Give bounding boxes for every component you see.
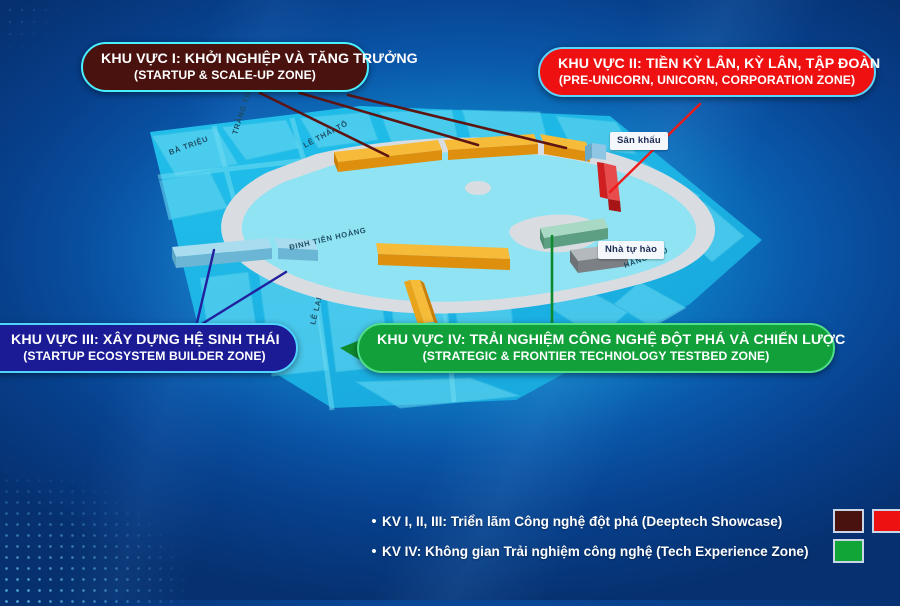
legend-item-1: • KV I, II, III: Triển lãm Công nghệ đột…: [366, 506, 900, 536]
legend-item-1-text: KV I, II, III: Triển lãm Công nghệ đột p…: [382, 514, 782, 529]
zone-label-1-line2: (STARTUP & SCALE-UP ZONE): [101, 68, 349, 83]
legend-swatch-row-top: [833, 509, 900, 533]
zone-label-4-line2: (STRATEGIC & FRONTIER TECHNOLOGY TESTBED…: [377, 349, 815, 364]
bullet-icon: •: [366, 514, 382, 529]
zone-label-3[interactable]: KHU VỰC III: XÂY DỰNG HỆ SINH THÁI (STAR…: [0, 323, 298, 373]
zone-label-1-line1: KHU VỰC I: KHỞI NGHIỆP VÀ TĂNG TRƯỞNG: [101, 51, 349, 68]
zone-label-2[interactable]: KHU VỰC II: TIỀN KỲ LÂN, KỲ LÂN, TẬP ĐOÀ…: [538, 47, 876, 97]
legend-item-2-text: KV IV: Không gian Trải nghiệm công nghệ …: [382, 544, 809, 559]
zone-label-4[interactable]: KHU VỰC IV: TRẢI NGHIỆM CÔNG NGHỆ ĐỘT PH…: [357, 323, 835, 373]
zone-label-3-line1: KHU VỰC III: XÂY DỰNG HỆ SINH THÁI: [11, 332, 278, 349]
swatch-red: [872, 509, 900, 533]
swatch-green: [833, 539, 864, 563]
zone-label-4-line1: KHU VỰC IV: TRẢI NGHIỆM CÔNG NGHỆ ĐỘT PH…: [377, 332, 815, 349]
callout-pride-house[interactable]: Nhà tự hào: [598, 241, 664, 259]
legend-swatch-row-bottom: [833, 539, 900, 563]
zone-label-3-line2: (STARTUP ECOSYSTEM BUILDER ZONE): [11, 349, 278, 364]
legend-color-swatches: [833, 509, 900, 563]
zone-label-2-line1: KHU VỰC II: TIỀN KỲ LÂN, KỲ LÂN, TẬP ĐOÀ…: [558, 56, 856, 73]
swatch-maroon: [833, 509, 864, 533]
bullet-icon: •: [366, 544, 382, 559]
zone-label-1[interactable]: KHU VỰC I: KHỞI NGHIỆP VÀ TĂNG TRƯỞNG (S…: [81, 42, 369, 92]
legend-item-2: • KV IV: Không gian Trải nghiệm công ngh…: [366, 536, 900, 566]
zone-label-2-line2: (PRE-UNICORN, UNICORN, CORPORATION ZONE): [558, 73, 856, 88]
legend-list: • KV I, II, III: Triển lãm Công nghệ đột…: [366, 506, 900, 566]
callout-stage[interactable]: Sân khấu: [610, 132, 668, 150]
